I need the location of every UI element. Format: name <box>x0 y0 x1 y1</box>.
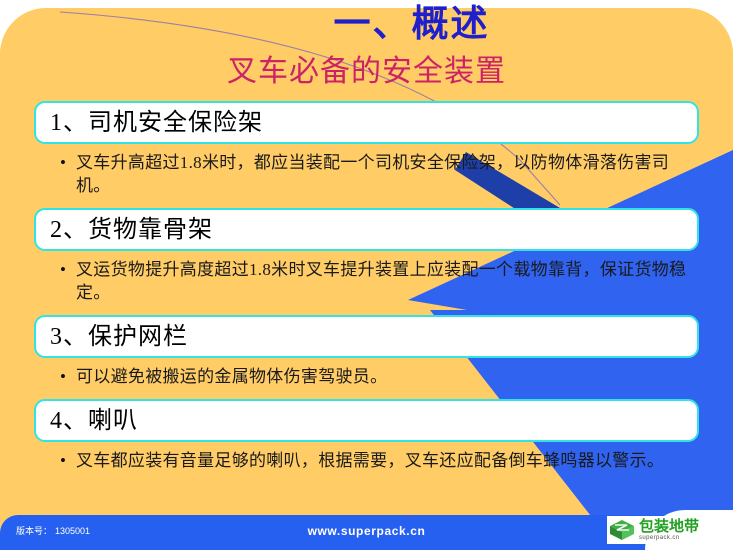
bullet-text-3: 可以避免被搬运的金属物体伤害驾驶员。 <box>76 365 693 388</box>
bullet-row-2: • 叉运货物提升高度超过1.8米时叉车提升装置上应装配一个载物靠背，保证货物稳定… <box>60 258 693 304</box>
superpack-logo[interactable]: 包装地带 superpack.cn <box>607 516 715 544</box>
content-section-4: 4、喇叭 • 叉车都应装有音量足够的喇叭，根据需要，叉车还应配备倒车蜂鸣器以警示… <box>0 399 733 472</box>
green-box-icon <box>607 517 637 543</box>
heading-box-3[interactable]: 3、保护网栏 <box>34 315 699 358</box>
bullet-marker-icon: • <box>60 365 76 388</box>
heading-box-1-label: 1、司机安全保险架 <box>50 110 263 136</box>
heading-box-4-label: 4、喇叭 <box>50 408 138 434</box>
content-section-3: 3、保护网栏 • 可以避免被搬运的金属物体伤害驾驶员。 <box>0 315 733 388</box>
heading-box-2[interactable]: 2、货物靠骨架 <box>34 208 699 251</box>
bullet-row-1: • 叉车升高超过1.8米时，都应当装配一个司机安全保险架，以防物体滑落伤害司机。 <box>60 151 693 197</box>
content-section-1: 1、司机安全保险架 • 叉车升高超过1.8米时，都应当装配一个司机安全保险架，以… <box>0 101 733 197</box>
logo-brand-en: superpack.cn <box>639 535 715 541</box>
heading-box-2-label: 2、货物靠骨架 <box>50 217 213 243</box>
heading-box-3-label: 3、保护网栏 <box>50 324 188 350</box>
slide-canvas: 一、概述 叉车必备的安全装置 1、司机安全保险架 • 叉车升高超过1.8米时，都… <box>0 0 733 550</box>
bullet-marker-icon: • <box>60 258 76 304</box>
bullet-marker-icon: • <box>60 449 76 472</box>
bullet-row-3: • 可以避免被搬运的金属物体伤害驾驶员。 <box>60 365 693 388</box>
page-subtitle: 叉车必备的安全装置 <box>0 52 733 92</box>
heading-box-1[interactable]: 1、司机安全保险架 <box>34 101 699 144</box>
content-section-2: 2、货物靠骨架 • 叉运货物提升高度超过1.8米时叉车提升装置上应装配一个载物靠… <box>0 208 733 304</box>
bullet-marker-icon: • <box>60 151 76 197</box>
bullet-text-4: 叉车都应装有音量足够的喇叭，根据需要，叉车还应配备倒车蜂鸣器以警示。 <box>76 449 693 472</box>
bullet-text-1: 叉车升高超过1.8米时，都应当装配一个司机安全保险架，以防物体滑落伤害司机。 <box>76 151 693 197</box>
slide-footer: 版本号：1305001 www.superpack.cn 包装地带 superp… <box>0 515 733 550</box>
page-title: 一、概述 <box>0 2 733 48</box>
bullet-text-2: 叉运货物提升高度超过1.8米时叉车提升装置上应装配一个载物靠背，保证货物稳定。 <box>76 258 693 304</box>
heading-box-4[interactable]: 4、喇叭 <box>34 399 699 442</box>
logo-text-group: 包装地带 superpack.cn <box>637 519 715 541</box>
bullet-row-4: • 叉车都应装有音量足够的喇叭，根据需要，叉车还应配备倒车蜂鸣器以警示。 <box>60 449 693 472</box>
logo-brand-cn: 包装地带 <box>639 519 715 534</box>
